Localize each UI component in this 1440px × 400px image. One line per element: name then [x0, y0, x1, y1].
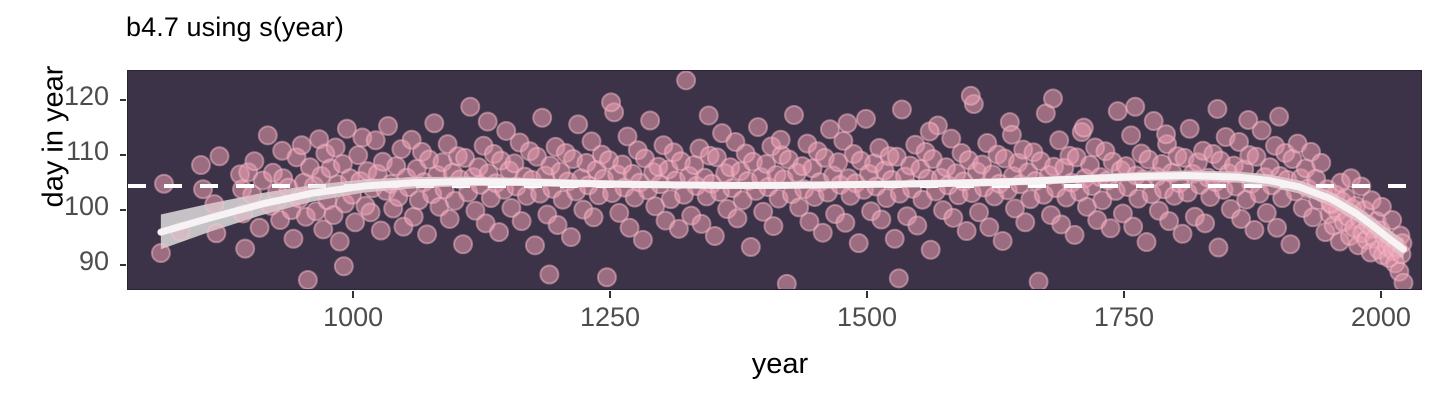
x-tick-label: 1000 [283, 302, 423, 333]
scatter-point [836, 214, 854, 232]
scatter-point [327, 138, 345, 156]
scatter-point [772, 131, 790, 149]
scatter-point [362, 203, 380, 221]
scatter-point [742, 238, 760, 256]
plot-canvas [128, 71, 1422, 290]
scatter-point [1196, 214, 1214, 232]
scatter-point [785, 106, 803, 124]
x-axis-title-text: year [752, 348, 808, 380]
scatter-point [1304, 208, 1322, 226]
plot-panel [127, 70, 1422, 290]
scatter-point [1270, 108, 1288, 126]
scatter-point [1394, 274, 1412, 290]
scatter-point [1138, 233, 1156, 251]
scatter-point [585, 208, 603, 226]
scatter-point [1174, 225, 1192, 243]
scatter-point [1245, 221, 1263, 239]
scatter-point [778, 275, 796, 290]
scatter-point [1075, 119, 1093, 137]
x-axis-title: year [0, 348, 1440, 381]
y-tick-label: 100 [0, 191, 109, 222]
scatter-point [245, 152, 263, 170]
scatter-point [1044, 90, 1062, 108]
scatter-point [479, 113, 497, 131]
scatter-point [641, 112, 659, 130]
scatter-point [349, 146, 367, 164]
scatter-point [677, 71, 695, 89]
x-tick-mark [352, 291, 354, 298]
scatter-point [1268, 219, 1286, 237]
scatter-point [192, 156, 210, 174]
scatter-point [284, 230, 302, 248]
scatter-point [962, 87, 980, 105]
scatter-point [764, 217, 782, 235]
scatter-point [331, 233, 349, 251]
scatter-point [598, 268, 616, 286]
scatter-point [980, 218, 998, 236]
y-tick-label: 110 [0, 136, 109, 167]
chart-title: b4.7 using s(year) [126, 12, 344, 43]
scatter-point [425, 114, 443, 132]
scatter-point [872, 211, 890, 229]
scatter-point [155, 175, 173, 193]
x-tick-label: 1250 [540, 302, 680, 333]
scatter-point [814, 224, 832, 242]
scatter-point [490, 223, 508, 241]
scatter-point [441, 210, 459, 228]
scatter-point [728, 209, 746, 227]
y-tick-mark [120, 154, 126, 156]
scatter-point [335, 257, 353, 275]
scatter-point [562, 228, 580, 246]
scatter-point [1016, 213, 1034, 231]
scatter-point [706, 227, 724, 245]
scatter-point [1109, 102, 1127, 120]
scatter-point [513, 212, 531, 230]
scatter-point [1122, 126, 1140, 144]
scatter-point [921, 123, 939, 141]
scatter-point [1312, 154, 1330, 172]
scatter-point [890, 269, 908, 287]
scatter-point [1003, 126, 1021, 144]
scatter-point [236, 240, 254, 258]
x-tick-mark [866, 291, 868, 298]
scatter-point [454, 235, 472, 253]
scatter-point [251, 219, 269, 237]
x-tick-mark [1123, 291, 1125, 298]
y-tick-mark [120, 99, 126, 101]
scatter-point [634, 231, 652, 249]
y-tick-label: 90 [0, 246, 109, 277]
scatter-point [700, 107, 718, 125]
scatter-point [1030, 273, 1048, 290]
scatter-point [533, 109, 551, 127]
scatter-point [838, 114, 856, 132]
scatter-point [958, 222, 976, 240]
scatter-point [749, 118, 767, 136]
scatter-point [1239, 111, 1257, 129]
scatter-point [379, 117, 397, 135]
scatter-point [886, 230, 904, 248]
x-tick-label: 1750 [1054, 302, 1194, 333]
scatter-point [210, 147, 228, 165]
scatter-point [526, 236, 544, 254]
scatter-point [922, 241, 940, 259]
scatter-point [1181, 120, 1199, 138]
scatter-point [540, 266, 558, 284]
scatter-point [893, 101, 911, 119]
scatter-point [857, 110, 875, 128]
y-tick-label: 120 [0, 81, 109, 112]
scatter-point [1281, 235, 1299, 253]
x-tick-mark [1380, 291, 1382, 298]
scatter-point [372, 222, 390, 240]
x-tick-label: 2000 [1311, 302, 1440, 333]
scatter-point [293, 136, 311, 154]
scatter-point [1124, 218, 1142, 236]
scatter-point [461, 98, 479, 116]
scatter-point [602, 93, 620, 111]
scatter-point [908, 217, 926, 235]
scatter-point [850, 234, 868, 252]
x-tick-mark [609, 291, 611, 298]
scatter-point [418, 225, 436, 243]
scatter-point [259, 126, 277, 144]
scatter-point [1208, 100, 1226, 118]
scatter-point [1157, 125, 1175, 143]
y-tick-mark [120, 264, 126, 266]
scatter-point [367, 131, 385, 149]
y-tick-mark [120, 209, 126, 211]
scatter-point [994, 232, 1012, 250]
scatter-point [1102, 219, 1120, 237]
scatter-point [1066, 226, 1084, 244]
scatter-point [569, 115, 587, 133]
scatter-point [299, 271, 317, 289]
chart-root: b4.7 using s(year) day in year 901001101… [0, 0, 1440, 400]
scatter-point [405, 208, 423, 226]
scatter-point [1209, 239, 1227, 257]
scatter-point [1126, 98, 1144, 116]
x-tick-label: 1500 [797, 302, 937, 333]
